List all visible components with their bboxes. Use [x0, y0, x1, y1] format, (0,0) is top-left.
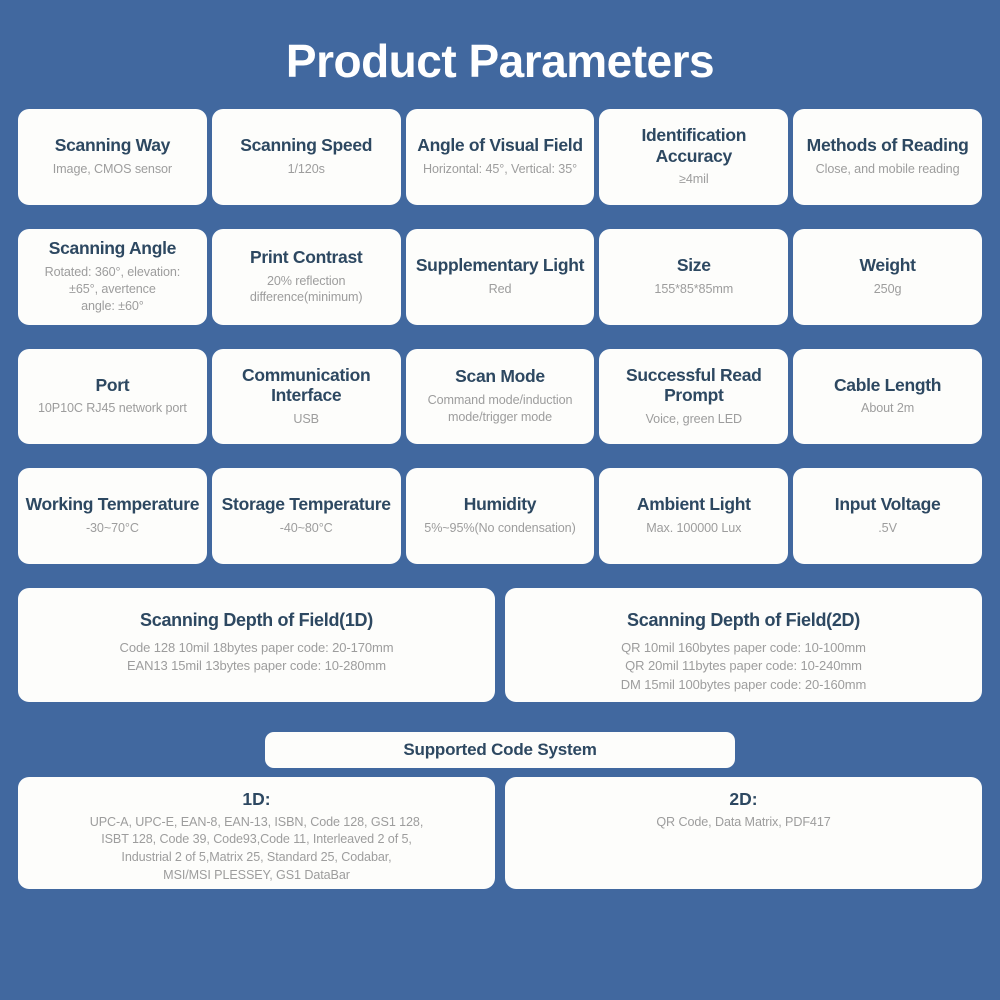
spec-value: Max. 100000 Lux: [646, 520, 741, 537]
spec-value: Rotated: 360°, elevation: ±65°, avertenc…: [45, 264, 181, 315]
code-group-list: QR Code, Data Matrix, PDF417: [515, 814, 972, 832]
spec-card-humidity: Humidity 5%~95%(No condensation): [406, 468, 595, 564]
spec-value: USB: [293, 411, 319, 428]
spec-card-scanning-way: Scanning Way Image, CMOS sensor: [18, 109, 207, 205]
spec-value: .5V: [878, 520, 897, 537]
spec-label: Scan Mode: [455, 366, 545, 387]
spec-card-cable-length: Cable Length About 2m: [793, 349, 982, 444]
spec-value: 1/120s: [288, 161, 325, 178]
spec-label: Port: [95, 375, 129, 396]
spec-value: 20% reflection difference(minimum): [250, 273, 363, 307]
spec-card-print-contrast: Print Contrast 20% reflection difference…: [212, 229, 401, 325]
code-group-title: 2D:: [515, 789, 972, 810]
spec-card-weight: Weight 250g: [793, 229, 982, 325]
spec-card-methods-of-reading: Methods of Reading Close, and mobile rea…: [793, 109, 982, 205]
spec-label: Print Contrast: [250, 247, 362, 268]
spec-row: Working Temperature -30~70°C Storage Tem…: [18, 468, 982, 564]
code-group-title: 1D:: [28, 789, 485, 810]
spec-row: Scanning Way Image, CMOS sensor Scanning…: [18, 109, 982, 205]
depth-of-field-lines: QR 10mil 160bytes paper code: 10-100mm Q…: [515, 639, 972, 694]
spec-value: 10P10C RJ45 network port: [38, 400, 187, 417]
spec-value: 155*85*85mm: [654, 281, 733, 298]
spec-value: About 2m: [861, 400, 914, 417]
spec-value: ≥4mil: [679, 171, 709, 188]
spec-row: Scanning Angle Rotated: 360°, elevation:…: [18, 229, 982, 325]
spec-card-communication-interface: Communication Interface USB: [212, 349, 401, 444]
spec-card-successful-read-prompt: Successful Read Prompt Voice, green LED: [599, 349, 788, 444]
code-group-list: UPC-A, UPC-E, EAN-8, EAN-13, ISBN, Code …: [28, 814, 485, 886]
spec-value: -30~70°C: [86, 520, 139, 537]
spec-label: Methods of Reading: [807, 135, 969, 156]
code-card-2d: 2D: QR Code, Data Matrix, PDF417: [505, 777, 982, 889]
spec-label: Communication Interface: [219, 365, 394, 406]
spec-label: Supplementary Light: [416, 255, 584, 276]
spec-card-input-voltage: Input Voltage .5V: [793, 468, 982, 564]
supported-codes-row: 1D: UPC-A, UPC-E, EAN-8, EAN-13, ISBN, C…: [18, 777, 982, 889]
spec-label: Working Temperature: [26, 494, 200, 515]
depth-of-field-card-2d: Scanning Depth of Field(2D) QR 10mil 160…: [505, 588, 982, 702]
supported-code-system-bar-wrap: Supported Code System: [18, 732, 982, 768]
spec-card-storage-temperature: Storage Temperature -40~80°C: [212, 468, 401, 564]
spec-card-supplementary-light: Supplementary Light Red: [406, 229, 595, 325]
spec-row: Port 10P10C RJ45 network port Communicat…: [18, 349, 982, 444]
spec-value: Red: [489, 281, 512, 298]
spec-value: Horizontal: 45°, Vertical: 35°: [423, 161, 577, 178]
spec-card-scanning-angle: Scanning Angle Rotated: 360°, elevation:…: [18, 229, 207, 325]
page-title: Product Parameters: [18, 0, 982, 109]
spec-label: Scanning Angle: [49, 238, 176, 259]
spec-value: Close, and mobile reading: [816, 161, 960, 178]
spec-value: 250g: [874, 281, 902, 298]
spec-label: Cable Length: [834, 375, 941, 396]
spec-card-angle-of-visual-field: Angle of Visual Field Horizontal: 45°, V…: [406, 109, 595, 205]
spec-value: Command mode/induction mode/trigger mode: [428, 392, 573, 426]
code-card-1d: 1D: UPC-A, UPC-E, EAN-8, EAN-13, ISBN, C…: [18, 777, 495, 889]
spec-card-size: Size 155*85*85mm: [599, 229, 788, 325]
spec-label: Scanning Speed: [240, 135, 372, 156]
spec-label: Angle of Visual Field: [417, 135, 583, 156]
depth-of-field-title: Scanning Depth of Field(2D): [515, 610, 972, 631]
spec-value: Image, CMOS sensor: [53, 161, 172, 178]
depth-of-field-title: Scanning Depth of Field(1D): [28, 610, 485, 631]
spec-card-working-temperature: Working Temperature -30~70°C: [18, 468, 207, 564]
spec-card-identification-accuracy: Identification Accuracy ≥4mil: [599, 109, 788, 205]
product-parameters-page: Product Parameters Scanning Way Image, C…: [0, 0, 1000, 1000]
spec-value: Voice, green LED: [646, 411, 742, 428]
spec-card-scanning-speed: Scanning Speed 1/120s: [212, 109, 401, 205]
spec-label: Size: [677, 255, 711, 276]
spec-value: -40~80°C: [280, 520, 333, 537]
spec-card-port: Port 10P10C RJ45 network port: [18, 349, 207, 444]
spec-label: Ambient Light: [637, 494, 751, 515]
spec-label: Scanning Way: [55, 135, 170, 156]
supported-code-system-heading: Supported Code System: [265, 732, 735, 768]
spec-label: Successful Read Prompt: [606, 365, 781, 406]
spec-label: Weight: [859, 255, 915, 276]
spec-label: Input Voltage: [835, 494, 941, 515]
spec-value: 5%~95%(No condensation): [424, 520, 575, 537]
spec-card-ambient-light: Ambient Light Max. 100000 Lux: [599, 468, 788, 564]
depth-of-field-card-1d: Scanning Depth of Field(1D) Code 128 10m…: [18, 588, 495, 702]
spec-card-scan-mode: Scan Mode Command mode/induction mode/tr…: [406, 349, 595, 444]
spec-label: Identification Accuracy: [606, 125, 781, 166]
spec-label: Storage Temperature: [222, 494, 391, 515]
depth-of-field-lines: Code 128 10mil 18bytes paper code: 20-17…: [28, 639, 485, 676]
depth-of-field-row: Scanning Depth of Field(1D) Code 128 10m…: [18, 588, 982, 702]
spec-label: Humidity: [464, 494, 536, 515]
